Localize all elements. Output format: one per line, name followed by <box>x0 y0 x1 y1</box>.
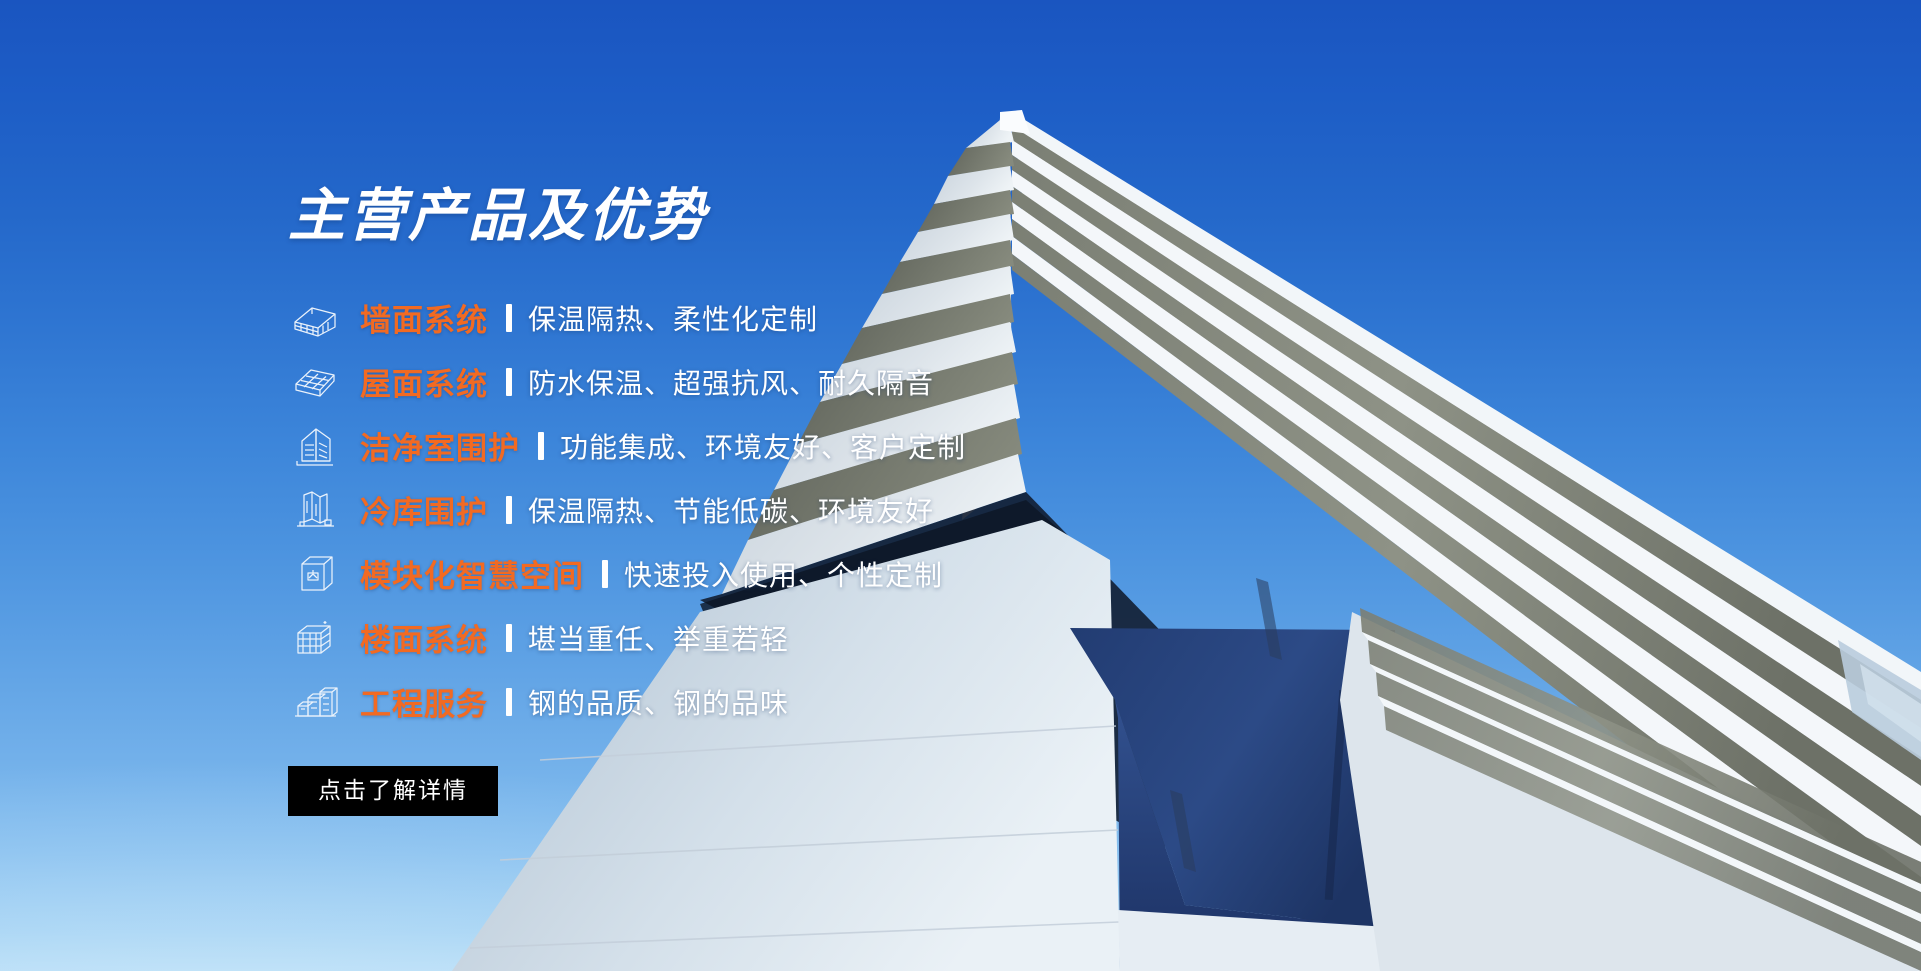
feature-list: 墙面系统 保温隔热、柔性化定制 屋面系统 <box>288 286 1348 734</box>
feature-separator <box>602 560 608 588</box>
product-advantages-banner: 主营产品及优势 墙面系统 <box>0 0 1921 971</box>
feature-description: 快速投入使用、个性定制 <box>624 554 943 594</box>
feature-item-cold-storage[interactable]: 冷库围护 保温隔热、节能低碳、环境友好 <box>288 478 1348 542</box>
feature-name: 模块化智慧空间 <box>360 551 584 596</box>
feature-description: 保温隔热、节能低碳、环境友好 <box>528 490 934 530</box>
feature-item-modular-space[interactable]: 模块化智慧空间 快速投入使用、个性定制 <box>288 542 1348 606</box>
learn-more-button[interactable]: 点击了解详情 <box>288 766 498 816</box>
feature-description: 功能集成、环境友好、客户定制 <box>560 426 966 466</box>
building-apex <box>1000 110 1030 134</box>
feature-description: 钢的品质、钢的品味 <box>528 682 789 722</box>
feature-description: 防水保温、超强抗风、耐久隔音 <box>528 362 934 402</box>
feature-description: 保温隔热、柔性化定制 <box>528 298 818 338</box>
page-title: 主营产品及优势 <box>288 186 1348 248</box>
feature-separator <box>506 496 512 524</box>
feature-item-engineering-service[interactable]: 工程服务 钢的品质、钢的品味 <box>288 670 1348 734</box>
feature-name: 楼面系统 <box>360 615 488 660</box>
wall-system-icon <box>288 294 342 342</box>
modular-space-icon <box>288 550 342 598</box>
feature-item-cleanroom[interactable]: 洁净室围护 功能集成、环境友好、客户定制 <box>288 414 1348 478</box>
feature-item-floor-system[interactable]: 楼面系统 堪当重任、举重若轻 <box>288 606 1348 670</box>
feature-name: 墙面系统 <box>360 295 488 340</box>
feature-item-wall-system[interactable]: 墙面系统 保温隔热、柔性化定制 <box>288 286 1348 350</box>
feature-separator <box>506 304 512 332</box>
feature-name: 工程服务 <box>360 679 488 724</box>
feature-separator <box>506 624 512 652</box>
feature-separator <box>506 688 512 716</box>
cold-storage-icon <box>288 486 342 534</box>
feature-name: 冷库围护 <box>360 487 488 532</box>
feature-separator <box>506 368 512 396</box>
feature-item-roof-system[interactable]: 屋面系统 防水保温、超强抗风、耐久隔音 <box>288 350 1348 414</box>
feature-separator <box>538 432 544 460</box>
feature-name: 洁净室围护 <box>360 423 520 468</box>
feature-name: 屋面系统 <box>360 359 488 404</box>
engineering-svc-icon <box>288 678 342 726</box>
cta-container: 点击了解详情 <box>288 766 1348 816</box>
floor-system-icon <box>288 614 342 662</box>
feature-description: 堪当重任、举重若轻 <box>528 618 789 658</box>
banner-content: 主营产品及优势 墙面系统 <box>288 186 1348 816</box>
roof-system-icon <box>288 358 342 406</box>
cleanroom-icon <box>288 422 342 470</box>
